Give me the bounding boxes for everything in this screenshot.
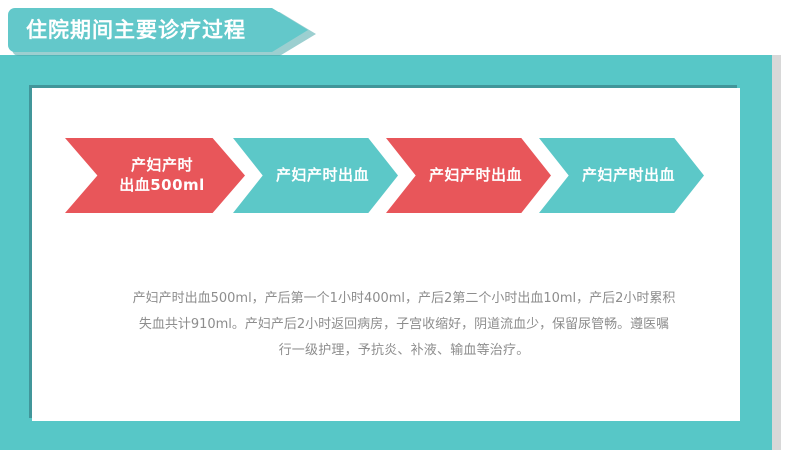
process-step-4[interactable]: 产妇产时出血 bbox=[539, 138, 704, 213]
process-flow: 产妇产时 出血500ml 产妇产时出血 产妇产时出血 产妇产时出血 bbox=[65, 138, 735, 213]
process-step-3-label: 产妇产时出血 bbox=[415, 166, 522, 186]
page-title: 住院期间主要诊疗过程 bbox=[26, 8, 246, 52]
process-step-1-label: 产妇产时 出血500ml bbox=[105, 156, 205, 196]
body-line-1: 产妇产时出血500ml，产后第一个1小时400ml，产后2第二个小时出血10ml… bbox=[105, 286, 703, 312]
process-step-4-label: 产妇产时出血 bbox=[568, 166, 675, 186]
process-step-2[interactable]: 产妇产时出血 bbox=[233, 138, 398, 213]
body-line-2: 失血共计910ml。产妇产后2小时返回病房，子宫收缩好，阴道流血少，保留尿管畅。… bbox=[105, 312, 703, 338]
body-line-3: 行一级护理，予抗炎、补液、输血等治疗。 bbox=[105, 338, 703, 364]
slide-canvas: 住院期间主要诊疗过程 产妇产时 出血500ml 产妇产时出血 产妇产时出血 产妇… bbox=[0, 0, 800, 450]
process-step-3[interactable]: 产妇产时出血 bbox=[386, 138, 551, 213]
process-step-1[interactable]: 产妇产时 出血500ml bbox=[65, 138, 245, 213]
frame-right-edge-strip bbox=[772, 55, 781, 450]
title-banner: 住院期间主要诊疗过程 bbox=[8, 8, 316, 56]
process-step-2-label: 产妇产时出血 bbox=[262, 166, 369, 186]
body-paragraph: 产妇产时出血500ml，产后第一个1小时400ml，产后2第二个小时出血10ml… bbox=[105, 286, 703, 364]
